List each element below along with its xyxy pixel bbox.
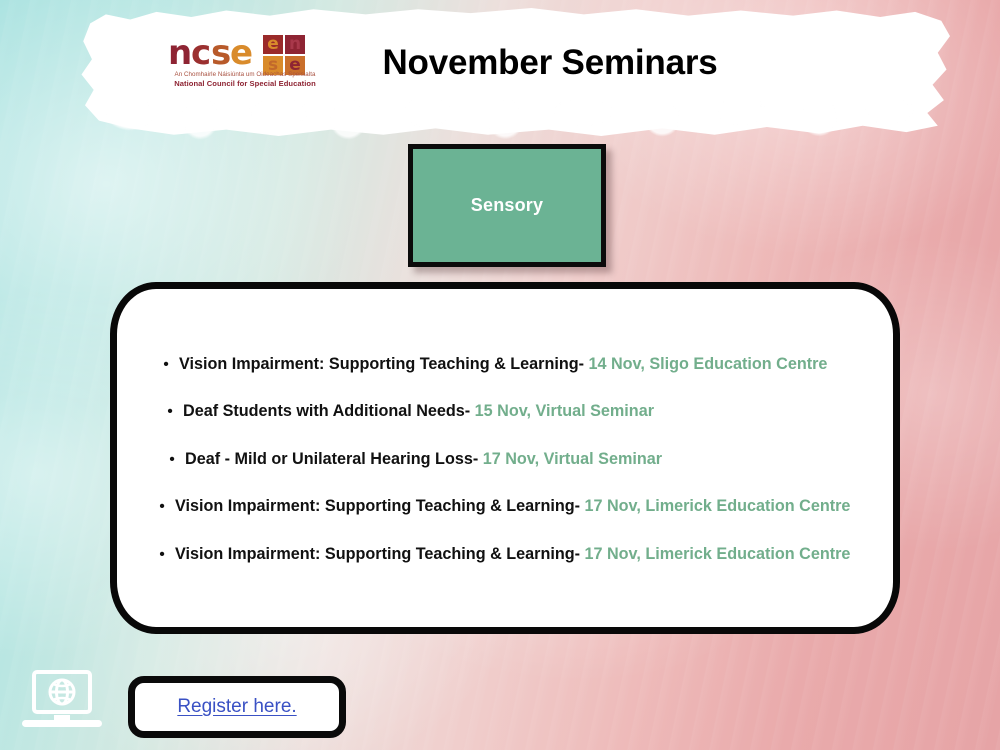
ncse-irish-name: An Chomhairle Náisiúnta um Oideachas Spe… [170, 71, 320, 79]
seminar-text: Vision Impairment: Supporting Teaching &… [179, 355, 875, 374]
seminar-detail: 14 Nov, Sligo Education Centre [588, 355, 827, 373]
ncse-logo-subtitle: An Chomhairle Náisiúnta um Oideachas Spe… [170, 71, 320, 90]
bullet-icon: • [149, 499, 175, 515]
list-item: • Vision Impairment: Supporting Teaching… [145, 497, 875, 516]
register-link[interactable]: Register here. [177, 696, 296, 718]
category-box-sensory: Sensory [408, 144, 606, 267]
seminar-text: Vision Impairment: Supporting Teaching &… [175, 497, 875, 516]
svg-text:n: n [168, 33, 192, 73]
seminar-title: Deaf Students with Additional Needs- [183, 402, 470, 420]
bullet-icon: • [153, 357, 179, 373]
logo-cell-1: e [263, 35, 283, 54]
seminar-detail: 17 Nov, Virtual Seminar [483, 450, 662, 468]
ncse-english-name: National Council for Special Education [170, 79, 320, 89]
svg-text:s: s [211, 33, 231, 73]
seminar-title: Vision Impairment: Supporting Teaching &… [179, 355, 584, 373]
seminar-title: Vision Impairment: Supporting Teaching &… [175, 545, 580, 563]
ncse-logo: n c s e e n s e An Chomhairle Náisiúnta … [168, 33, 316, 93]
ncse-logo-mark: e n s e [263, 35, 305, 75]
bullet-icon: • [149, 547, 175, 563]
category-label: Sensory [471, 195, 543, 216]
bullet-icon: • [159, 452, 185, 468]
register-button[interactable]: Register here. [128, 676, 346, 738]
seminar-list: • Vision Impairment: Supporting Teaching… [145, 355, 875, 564]
list-item: • Vision Impairment: Supporting Teaching… [145, 355, 875, 374]
seminar-detail: 15 Nov, Virtual Seminar [475, 402, 654, 420]
seminar-list-panel: • Vision Impairment: Supporting Teaching… [110, 282, 900, 634]
seminar-text: Vision Impairment: Supporting Teaching &… [175, 545, 875, 564]
seminar-text: Deaf - Mild or Unilateral Hearing Loss- … [185, 450, 875, 469]
page-title: November Seminars [330, 43, 770, 83]
list-item: • Deaf - Mild or Unilateral Hearing Loss… [145, 450, 875, 469]
logo-cell-2: n [285, 35, 305, 54]
list-item: • Vision Impairment: Supporting Teaching… [145, 545, 875, 564]
bullet-icon: • [157, 404, 183, 420]
laptop-globe-icon [18, 668, 106, 742]
seminar-detail: 17 Nov, Limerick Education Centre [584, 497, 850, 515]
seminar-text: Deaf Students with Additional Needs- 15 … [183, 402, 875, 421]
svg-text:e: e [230, 33, 253, 73]
svg-text:c: c [191, 33, 211, 73]
seminar-title: Deaf - Mild or Unilateral Hearing Loss- [185, 450, 478, 468]
slide: n c s e e n s e An Chomhairle Náisiúnta … [0, 0, 1000, 750]
list-item: • Deaf Students with Additional Needs- 1… [145, 402, 875, 421]
seminar-title: Vision Impairment: Supporting Teaching &… [175, 497, 580, 515]
seminar-detail: 17 Nov, Limerick Education Centre [584, 545, 850, 563]
